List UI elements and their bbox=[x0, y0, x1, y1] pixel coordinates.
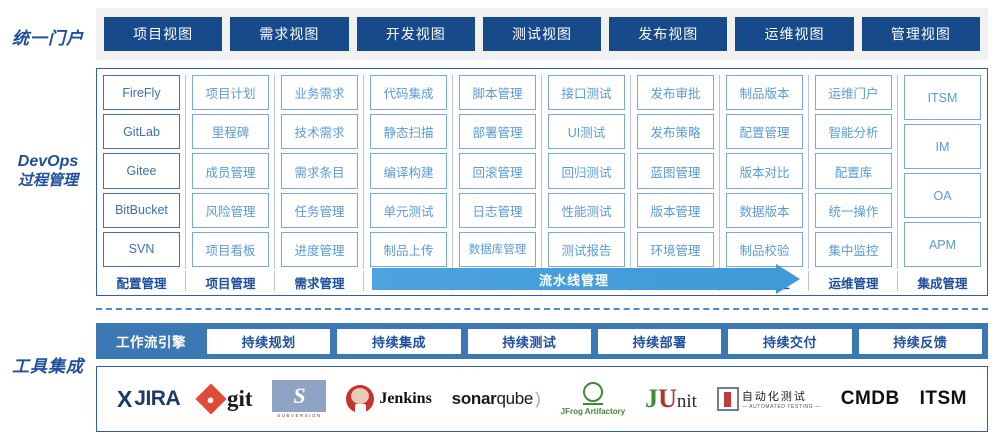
section-divider bbox=[96, 308, 988, 310]
subversion-glyph-icon: S bbox=[272, 380, 326, 412]
capability-cell[interactable]: SVN bbox=[103, 232, 180, 267]
capability-cell[interactable]: ITSM bbox=[904, 75, 981, 120]
rail-label-devops: DevOps 过程管理 bbox=[0, 152, 96, 191]
capability-cell[interactable]: 数据库管理 bbox=[459, 232, 536, 267]
jenkins-wordmark: Jenkins bbox=[379, 390, 431, 408]
capability-column: 制品版本配置管理版本对比数据版本制品校验 bbox=[720, 69, 809, 271]
rail-label-devops-line1: DevOps bbox=[0, 152, 96, 172]
capability-cell[interactable]: 测试报告 bbox=[548, 232, 625, 267]
capability-cell[interactable]: 统一操作 bbox=[815, 193, 892, 228]
workflow-stage-button[interactable]: 持续规划 bbox=[207, 329, 330, 354]
capability-column: ITSMIMOAAPM bbox=[898, 69, 987, 271]
capability-column-footer: 项目管理 bbox=[186, 269, 275, 295]
junit-u: U bbox=[658, 384, 677, 414]
capability-column: FireFlyGitLabGiteeBitBucketSVN bbox=[97, 69, 186, 271]
capability-cell[interactable]: FireFly bbox=[103, 75, 180, 110]
workflow-stage-button[interactable]: 持续部署 bbox=[598, 329, 721, 354]
capability-cell[interactable]: 风险管理 bbox=[192, 193, 269, 228]
jfrog-ring-icon bbox=[583, 382, 603, 402]
jira-mark-icon: Χ bbox=[117, 388, 132, 411]
capability-cell[interactable]: 制品上传 bbox=[370, 232, 447, 267]
capability-cell[interactable]: Gitee bbox=[103, 153, 180, 188]
workflow-stage-button[interactable]: 持续反馈 bbox=[859, 329, 982, 354]
capability-cell[interactable]: 版本对比 bbox=[726, 153, 803, 188]
rail-label-devops-line2: 过程管理 bbox=[0, 172, 96, 191]
capability-cell[interactable]: 发布策略 bbox=[637, 114, 714, 149]
git-logo: ●git bbox=[200, 376, 253, 422]
junit-rest: nit bbox=[677, 391, 697, 413]
capability-cell[interactable]: 单元测试 bbox=[370, 193, 447, 228]
rail-label-tools: 工具集成 bbox=[0, 356, 96, 377]
capability-cell[interactable]: 项目计划 bbox=[192, 75, 269, 110]
portal-view-button[interactable]: 发布视图 bbox=[609, 17, 727, 51]
capability-column: 运维门户智能分析配置库统一操作集中监控 bbox=[809, 69, 898, 271]
automated-testing-logo: 自动化测试— AUTOMATED TESTING — bbox=[717, 376, 821, 422]
capability-cell[interactable]: 静态扫描 bbox=[370, 114, 447, 149]
capability-cell[interactable]: 代码集成 bbox=[370, 75, 447, 110]
workflow-stage-button[interactable]: 持续交付 bbox=[728, 329, 851, 354]
capability-cell[interactable]: 运维门户 bbox=[815, 75, 892, 110]
capability-cell[interactable]: 智能分析 bbox=[815, 114, 892, 149]
git-diamond-icon: ● bbox=[195, 383, 226, 414]
capability-cell[interactable]: GitLab bbox=[103, 114, 180, 149]
git-wordmark: git bbox=[227, 386, 253, 412]
capability-cell[interactable]: 脚本管理 bbox=[459, 75, 536, 110]
subversion-caption: SUBVERSION bbox=[277, 413, 322, 418]
capability-cell[interactable]: 业务需求 bbox=[281, 75, 358, 110]
sonarqube-logo: sonarqube) bbox=[452, 376, 541, 422]
capability-cell[interactable]: 成员管理 bbox=[192, 153, 269, 188]
capability-cell[interactable]: 技术需求 bbox=[281, 114, 358, 149]
capability-cell[interactable]: 集中监控 bbox=[815, 232, 892, 267]
capability-cell[interactable]: 回滚管理 bbox=[459, 153, 536, 188]
capability-cell[interactable]: 任务管理 bbox=[281, 193, 358, 228]
jfrog-wordmark: JFrog Artifactory bbox=[561, 407, 626, 416]
capability-column-footer: 需求管理 bbox=[275, 269, 364, 295]
devops-process-panel: FireFlyGitLabGiteeBitBucketSVN项目计划里程碑成员管… bbox=[96, 68, 988, 296]
portal-view-bar: 项目视图需求视图开发视图测试视图发布视图运维视图管理视图 bbox=[96, 8, 988, 60]
capability-columns: FireFlyGitLabGiteeBitBucketSVN项目计划里程碑成员管… bbox=[97, 69, 987, 271]
capability-cell[interactable]: 日志管理 bbox=[459, 193, 536, 228]
portal-view-button[interactable]: 管理视图 bbox=[862, 17, 980, 51]
capability-column: 接口测试UI测试回归测试性能测试测试报告 bbox=[542, 69, 631, 271]
capability-cell[interactable]: 配置管理 bbox=[726, 114, 803, 149]
rail-label-tools-text: 工具集成 bbox=[0, 356, 96, 377]
cmdb-wordmark: CMDB bbox=[841, 388, 900, 410]
pipeline-arrow-head bbox=[776, 264, 800, 294]
portal-view-button[interactable]: 测试视图 bbox=[483, 17, 601, 51]
capability-column-footer: 配置管理 bbox=[97, 269, 186, 295]
capability-cell[interactable]: 发布审批 bbox=[637, 75, 714, 110]
portal-view-button[interactable]: 开发视图 bbox=[357, 17, 475, 51]
automated-testing-cn: 自动化测试 bbox=[742, 388, 821, 404]
capability-cell[interactable]: BitBucket bbox=[103, 193, 180, 228]
capability-column: 项目计划里程碑成员管理风险管理项目看板 bbox=[186, 69, 275, 271]
capability-cell[interactable]: IM bbox=[904, 124, 981, 169]
portal-view-button[interactable]: 运维视图 bbox=[735, 17, 853, 51]
jfrog-bar-icon bbox=[583, 403, 603, 405]
capability-cell[interactable]: 数据版本 bbox=[726, 193, 803, 228]
rail-label-portal: 统一门户 bbox=[0, 28, 96, 49]
capability-cell[interactable]: 接口测试 bbox=[548, 75, 625, 110]
capability-cell[interactable]: 回归测试 bbox=[548, 153, 625, 188]
jira-wordmark: JIRA bbox=[134, 387, 180, 411]
devops-platform-diagram: 统一门户 DevOps 过程管理 工具集成 项目视图需求视图开发视图测试视图发布… bbox=[0, 0, 1000, 439]
portal-view-button[interactable]: 需求视图 bbox=[230, 17, 348, 51]
itsm-logo: ITSM bbox=[920, 376, 967, 422]
capability-cell[interactable]: APM bbox=[904, 222, 981, 267]
capability-cell[interactable]: OA bbox=[904, 173, 981, 218]
capability-column-footer: 集成管理 bbox=[898, 269, 987, 295]
tool-integration-panel: ΧJIRA●gitSSUBVERSIONJenkinssonarqube)JFr… bbox=[96, 366, 988, 432]
pipeline-arrow: 流水线管理 bbox=[372, 268, 800, 290]
workflow-stage-button[interactable]: 持续集成 bbox=[337, 329, 460, 354]
portal-view-button[interactable]: 项目视图 bbox=[104, 17, 222, 51]
capability-cell[interactable]: 需求条目 bbox=[281, 153, 358, 188]
pipeline-arrow-label: 流水线管理 bbox=[372, 268, 776, 290]
junit-logo: JUnit bbox=[645, 376, 697, 422]
rail-label-portal-text: 统一门户 bbox=[0, 28, 96, 49]
workflow-engine-title: 工作流引擎 bbox=[102, 331, 200, 351]
capability-cell[interactable]: 制品校验 bbox=[726, 232, 803, 267]
sonarqube-wordmark-light: qube bbox=[496, 389, 533, 409]
itsm-wordmark: ITSM bbox=[920, 388, 967, 410]
capability-cell[interactable]: 版本管理 bbox=[637, 193, 714, 228]
jira-logo: ΧJIRA bbox=[117, 376, 180, 422]
jenkins-butler-icon bbox=[346, 385, 374, 413]
capability-column-footer: 运维管理 bbox=[809, 269, 898, 295]
capability-cell[interactable]: 项目看板 bbox=[192, 232, 269, 267]
capability-cell[interactable]: UI测试 bbox=[548, 114, 625, 149]
capability-column: 业务需求技术需求需求条目任务管理进度管理 bbox=[275, 69, 364, 271]
capability-cell[interactable]: 部署管理 bbox=[459, 114, 536, 149]
capability-column: 脚本管理部署管理回滚管理日志管理数据库管理 bbox=[453, 69, 542, 271]
capability-cell[interactable]: 配置库 bbox=[815, 153, 892, 188]
capability-column: 发布审批发布策略蓝图管理版本管理环境管理 bbox=[631, 69, 720, 271]
cmdb-logo: CMDB bbox=[841, 376, 900, 422]
capability-cell[interactable]: 性能测试 bbox=[548, 193, 625, 228]
jenkins-logo: Jenkins bbox=[346, 376, 431, 422]
junit-j: J bbox=[645, 384, 658, 414]
jfrog-artifactory-logo: JFrog Artifactory bbox=[561, 376, 626, 422]
sonarqube-arc-icon: ) bbox=[535, 389, 541, 409]
capability-cell[interactable]: 进度管理 bbox=[281, 232, 358, 267]
capability-cell[interactable]: 制品版本 bbox=[726, 75, 803, 110]
workflow-stage-button[interactable]: 持续测试 bbox=[468, 329, 591, 354]
capability-column: 代码集成静态扫描编译构建单元测试制品上传 bbox=[364, 69, 453, 271]
capability-cell[interactable]: 蓝图管理 bbox=[637, 153, 714, 188]
workflow-engine-bar: 工作流引擎 持续规划持续集成持续测试持续部署持续交付持续反馈 bbox=[96, 323, 988, 359]
automated-testing-icon bbox=[717, 387, 739, 411]
sonarqube-wordmark-bold: sonar bbox=[452, 389, 497, 409]
capability-cell[interactable]: 里程碑 bbox=[192, 114, 269, 149]
automated-testing-en: — AUTOMATED TESTING — bbox=[742, 404, 821, 410]
capability-cell[interactable]: 编译构建 bbox=[370, 153, 447, 188]
capability-cell[interactable]: 环境管理 bbox=[637, 232, 714, 267]
subversion-logo: SSUBVERSION bbox=[272, 376, 326, 422]
